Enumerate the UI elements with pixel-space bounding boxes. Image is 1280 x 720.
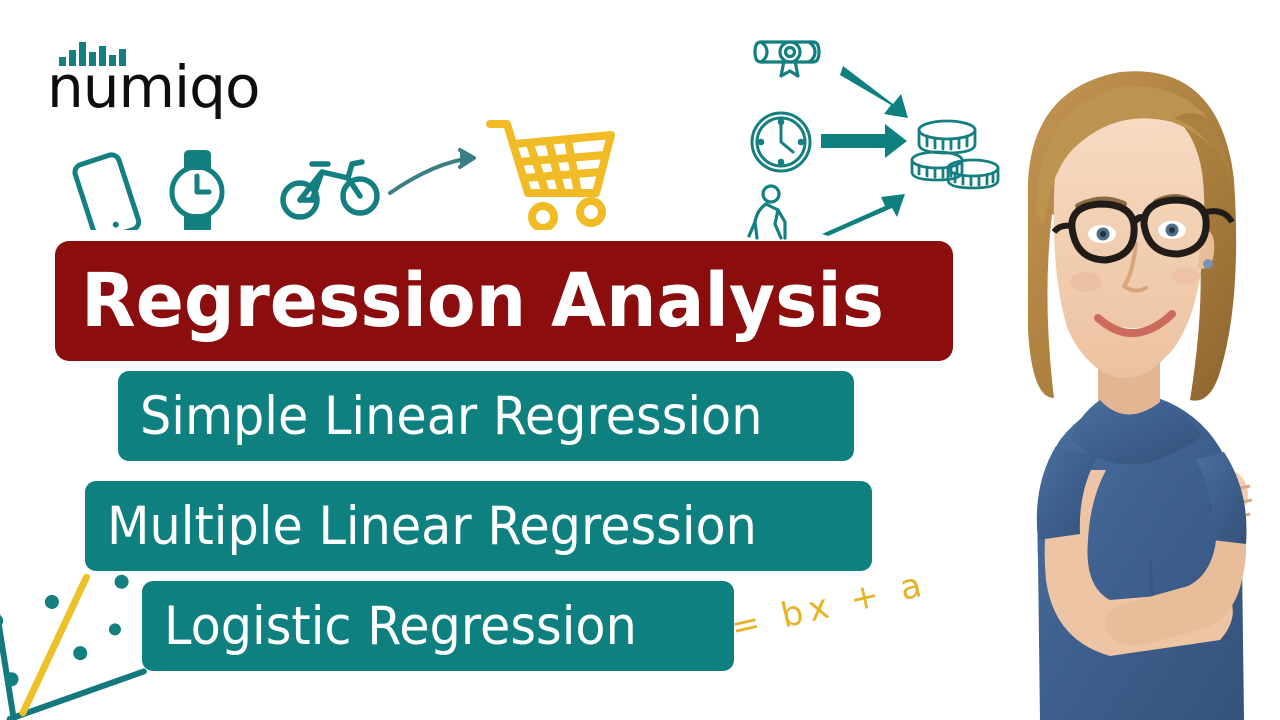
topic-banner-multiple-linear-regression[interactable]: Multiple Linear Regression bbox=[85, 481, 872, 571]
shopping-cart-icon bbox=[490, 124, 611, 228]
curved-arrow-icon bbox=[390, 150, 474, 193]
arrow-right-icon bbox=[821, 66, 908, 236]
title-banner: Regression Analysis bbox=[55, 241, 953, 361]
smartphone-icon bbox=[73, 153, 141, 230]
topic-banner-logistic-regression[interactable]: Logistic Regression bbox=[142, 581, 734, 671]
brand-logo[interactable]: numiqo bbox=[47, 38, 277, 120]
topic-banner-simple-linear-regression[interactable]: Simple Linear Regression bbox=[118, 371, 854, 461]
clock-icon bbox=[752, 113, 810, 171]
topic-label: Multiple Linear Regression bbox=[107, 500, 757, 553]
bicycle-icon bbox=[283, 162, 377, 217]
diploma-icon bbox=[755, 42, 819, 76]
thumbnail-slide: numiqo bbox=[0, 0, 1280, 720]
presenter-photo bbox=[920, 0, 1280, 720]
earring-icon bbox=[1203, 259, 1213, 269]
elderly-person-icon bbox=[749, 186, 785, 238]
topic-label: Logistic Regression bbox=[164, 600, 637, 653]
topic-label: Simple Linear Regression bbox=[140, 390, 762, 443]
wristwatch-icon bbox=[172, 150, 222, 230]
brand-name: numiqo bbox=[47, 58, 259, 116]
page-title: Regression Analysis bbox=[81, 264, 884, 338]
